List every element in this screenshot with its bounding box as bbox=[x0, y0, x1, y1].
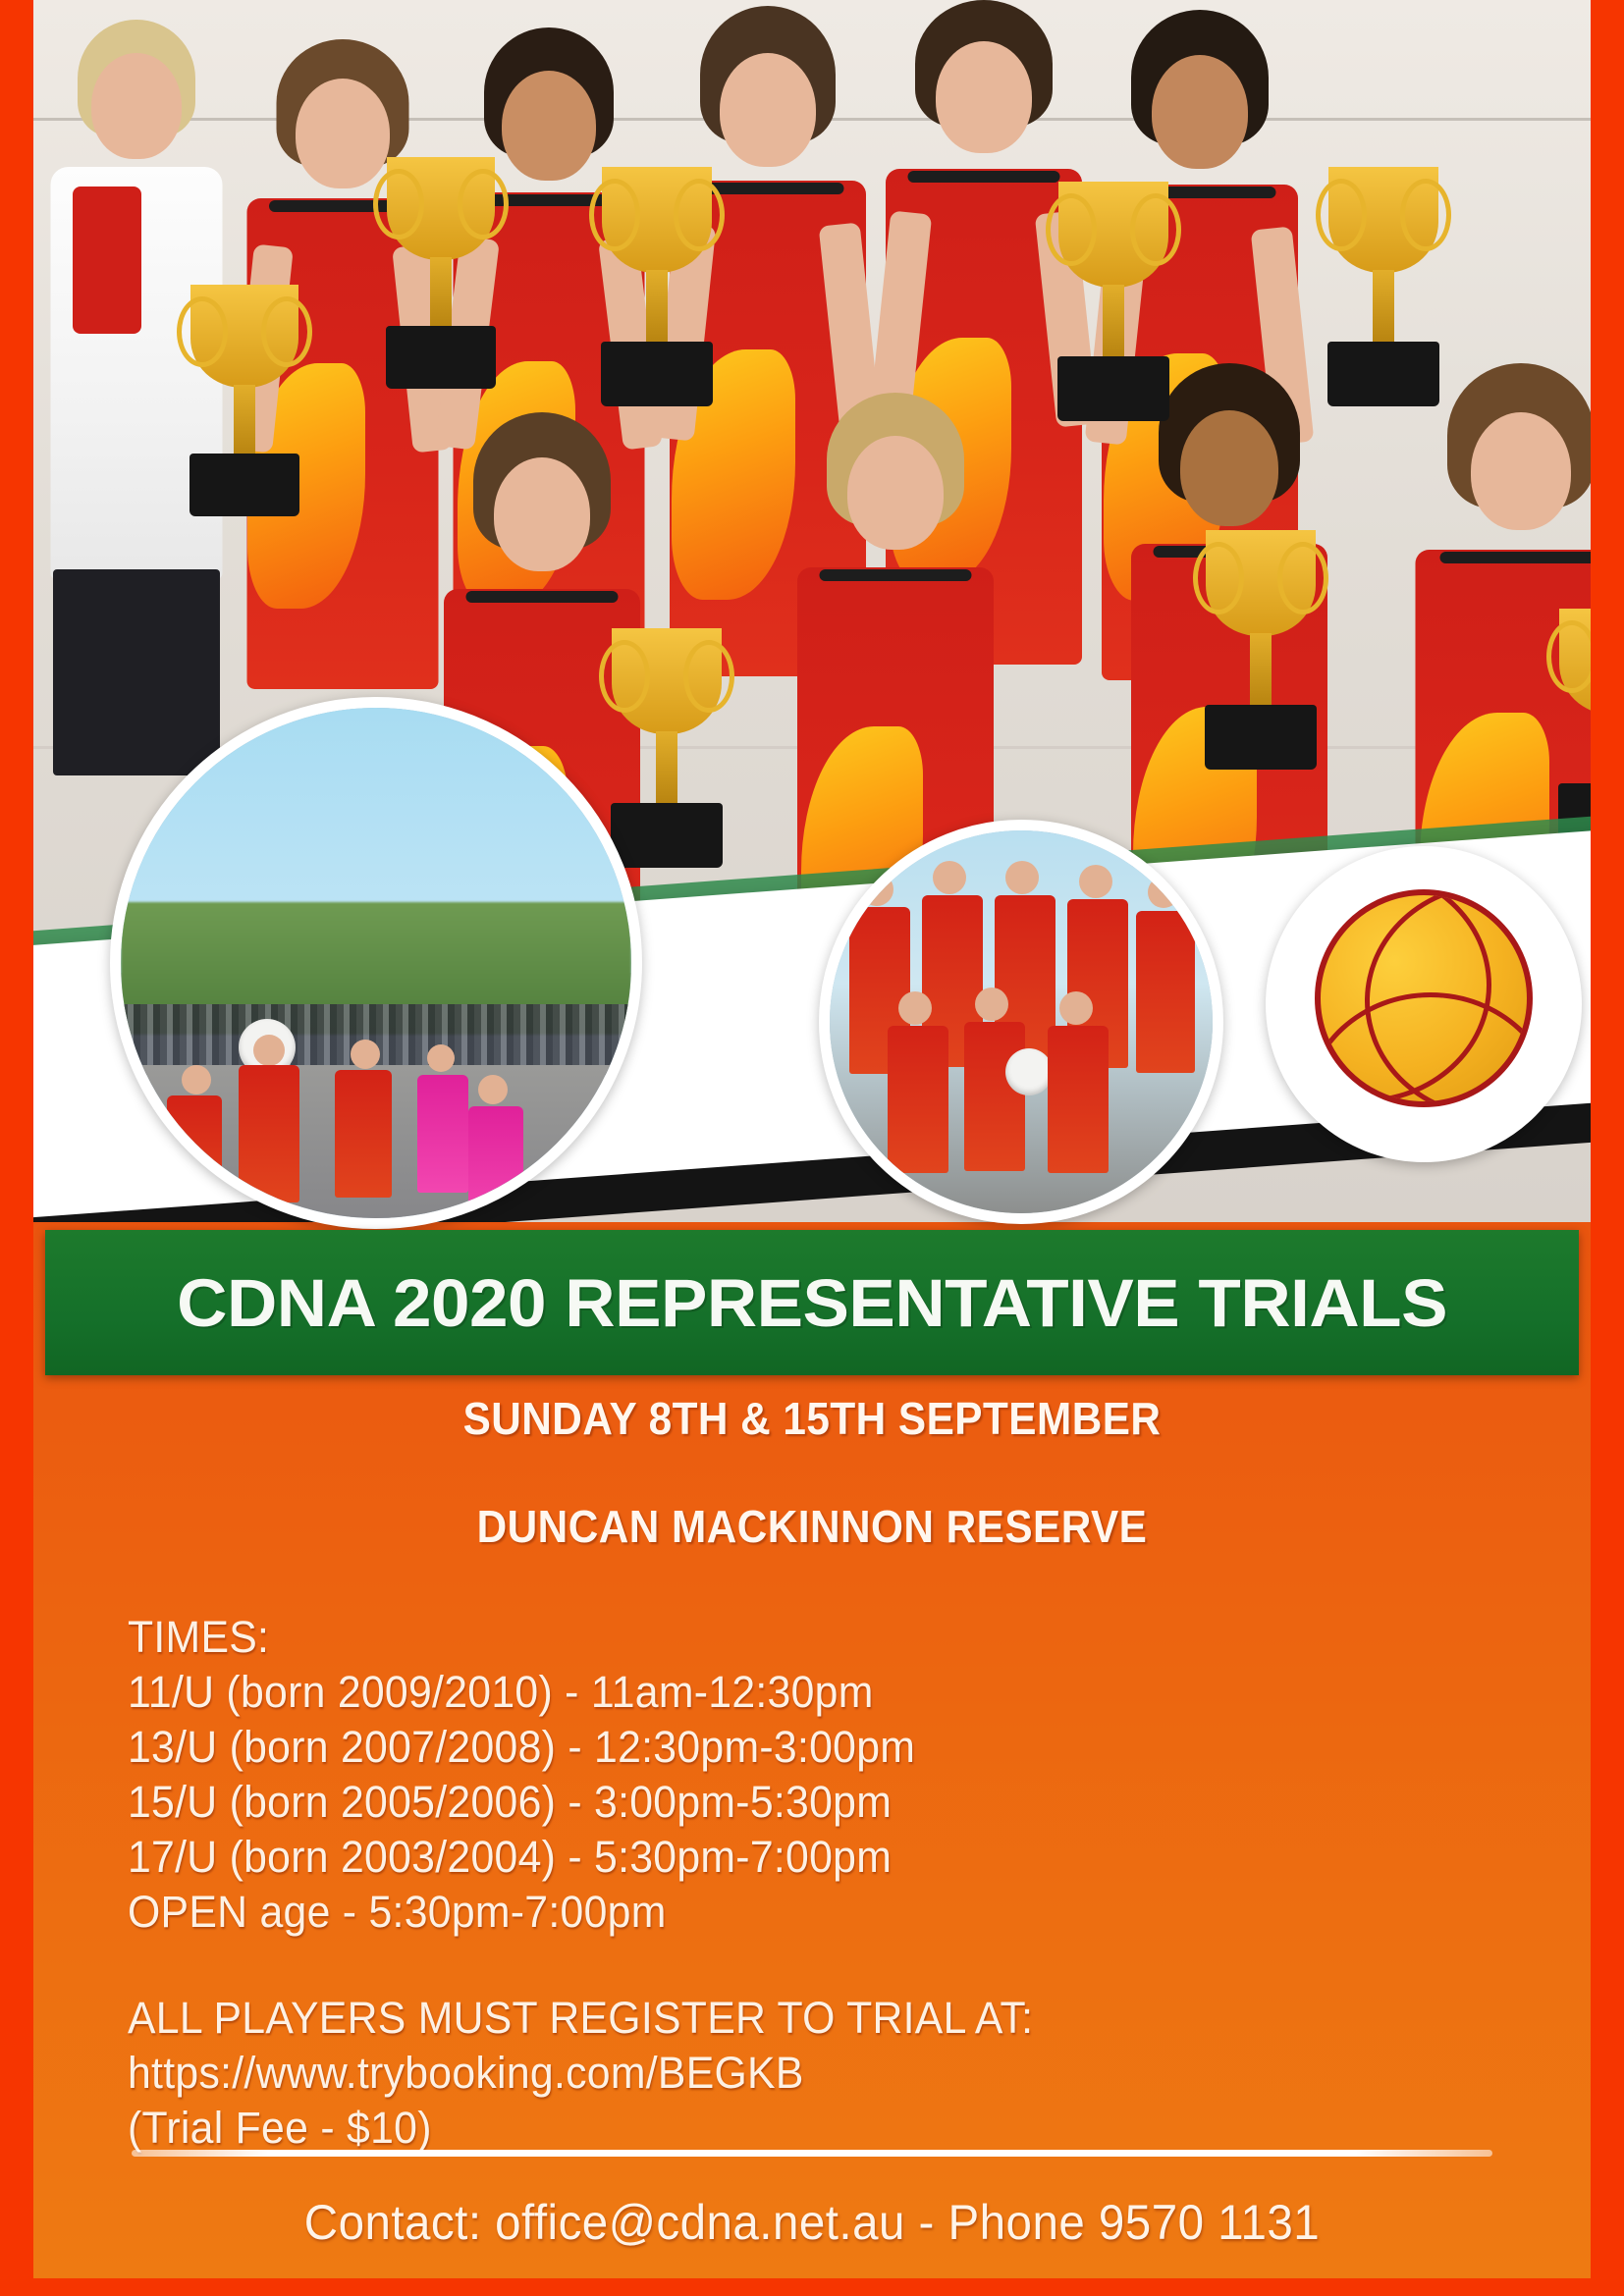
player-figure bbox=[1048, 1026, 1109, 1173]
time-row-11u: 11/U (born 2009/2010) - 11am-12:30pm bbox=[128, 1665, 1462, 1720]
time-row-17u: 17/U (born 2003/2004) - 5:30pm-7:00pm bbox=[128, 1830, 1462, 1885]
page-title: CDNA 2020 REPRESENTATIVE TRIALS bbox=[177, 1264, 1447, 1342]
event-date: SUNDAY 8TH & 15TH SEPTEMBER bbox=[95, 1392, 1528, 1445]
trial-fee: (Trial Fee - $10) bbox=[128, 2101, 1462, 2156]
footer-divider bbox=[132, 2150, 1492, 2157]
trophy-icon bbox=[377, 157, 505, 393]
time-row-15u: 15/U (born 2005/2006) - 3:00pm-5:30pm bbox=[128, 1775, 1462, 1830]
player-head bbox=[975, 988, 1008, 1021]
details-block: TIMES: 11/U (born 2009/2010) - 11am-12:3… bbox=[128, 1610, 1462, 2156]
player-head bbox=[1079, 865, 1112, 898]
poster-root: CDNA 2020 REPRESENTATIVE TRIALS SUNDAY 8… bbox=[0, 0, 1624, 2296]
player-figure bbox=[1136, 911, 1195, 1073]
spacer bbox=[128, 1940, 1462, 1991]
player-figure bbox=[964, 1022, 1025, 1171]
trophy-icon bbox=[1197, 530, 1325, 775]
time-row-open: OPEN age - 5:30pm-7:00pm bbox=[128, 1885, 1462, 1940]
contact-line: Contact: office@cdna.net.au - Phone 9570… bbox=[73, 2194, 1552, 2251]
player-figure bbox=[335, 1070, 392, 1198]
times-label: TIMES: bbox=[128, 1610, 1462, 1665]
player-figure bbox=[239, 1065, 299, 1202]
event-venue: DUNCAN MACKINNON RESERVE bbox=[95, 1500, 1528, 1553]
association-logo bbox=[1266, 846, 1582, 1162]
player-head bbox=[860, 873, 893, 906]
player-head bbox=[427, 1044, 455, 1072]
time-row-13u: 13/U (born 2007/2008) - 12:30pm-3:00pm bbox=[128, 1720, 1462, 1775]
trophy-icon bbox=[1320, 167, 1447, 412]
player-head bbox=[1059, 991, 1093, 1025]
register-url[interactable]: https://www.trybooking.com/BEGKB bbox=[128, 2046, 1462, 2101]
trophy-icon bbox=[593, 167, 721, 412]
player-figure bbox=[888, 1026, 948, 1173]
trophy-icon bbox=[181, 285, 308, 520]
player-head bbox=[898, 991, 932, 1025]
circle-photo-match bbox=[110, 697, 642, 1229]
circle-photo-team bbox=[819, 820, 1223, 1224]
logo-swoosh bbox=[1272, 964, 1576, 1162]
player-head bbox=[351, 1040, 380, 1069]
trophy-icon bbox=[1050, 182, 1177, 427]
player-figure bbox=[167, 1095, 222, 1213]
register-label: ALL PLAYERS MUST REGISTER TO TRIAL AT: bbox=[128, 1991, 1462, 2046]
title-banner: CDNA 2020 REPRESENTATIVE TRIALS bbox=[45, 1230, 1579, 1375]
poster-canvas: CDNA 2020 REPRESENTATIVE TRIALS SUNDAY 8… bbox=[33, 0, 1591, 2278]
player-figure bbox=[468, 1106, 523, 1222]
player-figure bbox=[417, 1075, 468, 1193]
player-head bbox=[1148, 877, 1179, 908]
player-head bbox=[253, 1035, 285, 1066]
